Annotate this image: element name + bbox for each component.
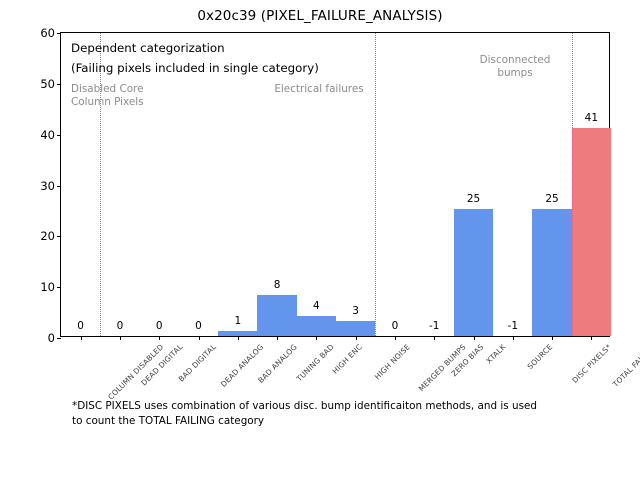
x-tick-label: TOTAL FAILING: [612, 343, 640, 389]
x-tick-mark: [395, 336, 396, 340]
bar-value-label: 0: [392, 320, 399, 332]
y-tick-label: 40: [40, 128, 55, 142]
x-tick-mark: [316, 336, 317, 340]
x-tick-mark: [591, 336, 592, 340]
x-tick-label: SOURCE: [526, 343, 554, 371]
bar: [297, 316, 336, 336]
y-tick-mark: [57, 287, 61, 288]
bar-value-label: -1: [508, 320, 518, 332]
x-tick-label: HIGH NOISE: [373, 343, 412, 382]
y-tick-label: 10: [40, 280, 55, 294]
annotation-headline-2: (Failing pixels included in single categ…: [71, 61, 319, 76]
x-tick-mark: [199, 336, 200, 340]
footnote-text: *DISC PIXELS uses combination of various…: [72, 399, 592, 429]
x-tick-mark: [238, 336, 239, 340]
bar-value-label: -1: [429, 320, 439, 332]
x-tick-label: DEAD ANALOG: [219, 343, 265, 389]
bar-value-label: 25: [467, 193, 480, 205]
x-tick-mark: [81, 336, 82, 340]
y-tick-mark: [57, 33, 61, 34]
bar-value-label: 0: [117, 320, 124, 332]
x-tick-mark: [474, 336, 475, 340]
annotation-headline-1: Dependent categorization: [71, 41, 225, 56]
x-tick-mark: [434, 336, 435, 340]
annotation-group-electrical: Electrical failures: [274, 83, 363, 96]
annotation-group-disconnected: Disconnected bumps: [480, 54, 551, 81]
category-divider: [100, 33, 101, 336]
bar: [572, 128, 611, 336]
y-tick-label: 0: [48, 331, 55, 345]
x-tick-mark: [552, 336, 553, 340]
category-divider: [375, 33, 376, 336]
y-tick-label: 20: [40, 229, 55, 243]
annotation-group-disabled: Disabled Core Column Pixels: [71, 83, 144, 110]
y-tick-mark: [57, 135, 61, 136]
x-tick-label: XTALK: [485, 343, 508, 366]
category-divider: [572, 33, 573, 336]
plot-area: 0102030405060 COLUMN DISABLEDDEAD DIGITA…: [60, 32, 610, 337]
y-tick-mark: [57, 186, 61, 187]
x-tick-mark: [513, 336, 514, 340]
x-tick-mark: [277, 336, 278, 340]
bar-value-label: 1: [234, 315, 241, 327]
y-tick-label: 60: [40, 26, 55, 40]
bar-value-label: 25: [545, 193, 558, 205]
bar-value-label: 0: [195, 320, 202, 332]
bar: [336, 321, 375, 336]
x-tick-label: TUNING BAD: [295, 343, 336, 384]
y-tick-label: 30: [40, 179, 55, 193]
y-tick-mark: [57, 338, 61, 339]
x-tick-mark: [356, 336, 357, 340]
y-tick-mark: [57, 84, 61, 85]
bar-value-label: 8: [274, 279, 281, 291]
bar: [257, 295, 296, 336]
bar-value-label: 41: [585, 112, 598, 124]
y-tick-label: 50: [40, 77, 55, 91]
x-tick-mark: [159, 336, 160, 340]
page-title: 0x20c39 (PIXEL_FAILURE_ANALYSIS): [0, 8, 640, 24]
figure-canvas: 0x20c39 (PIXEL_FAILURE_ANALYSIS) Number …: [0, 0, 640, 480]
bar: [454, 209, 493, 336]
bar-value-label: 0: [77, 320, 84, 332]
bar-value-label: 3: [352, 305, 359, 317]
x-tick-label: DISC PIXELS*: [571, 343, 613, 385]
x-tick-label: HIGH ENC: [332, 343, 365, 376]
y-tick-mark: [57, 236, 61, 237]
bar-value-label: 0: [156, 320, 163, 332]
bar-value-label: 4: [313, 300, 320, 312]
bar: [532, 209, 571, 336]
bar: [218, 331, 257, 336]
x-tick-mark: [120, 336, 121, 340]
